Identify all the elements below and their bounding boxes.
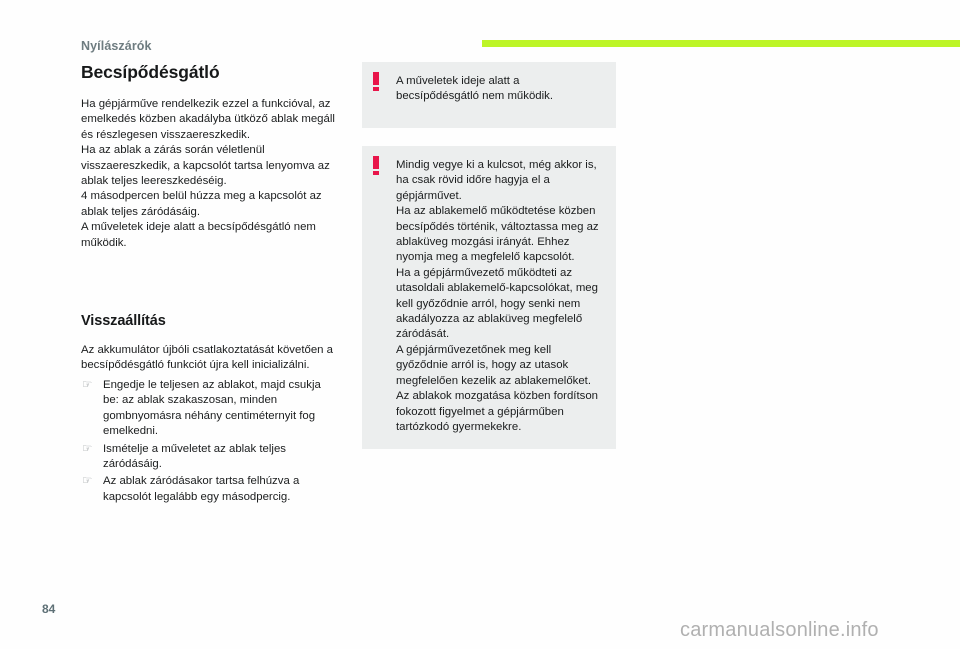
exclamation-icon (373, 72, 380, 91)
watermark: carmanualsonline.info (680, 619, 879, 642)
paragraph: Ha gépjárműve rendelkezik ezzel a funkci… (81, 97, 339, 143)
warning-box: A műveletek ideje alatt a becsípődésgátl… (362, 62, 616, 128)
list-item-label: Ismételje a műveletet az ablak teljes zá… (103, 443, 286, 470)
paragraph: 4 másodpercen belül húzza meg a kapcsoló… (81, 189, 339, 220)
list-item: ☞ Ismételje a műveletet az ablak teljes … (81, 442, 339, 473)
list-item-label: Engedje le teljesen az ablakot, majd csu… (103, 379, 321, 437)
pointing-hand-icon: ☞ (82, 378, 92, 393)
list-item: ☞ Engedje le teljesen az ablakot, majd c… (81, 378, 339, 440)
manual-page: Nyílászárók Becsípődésgátló Ha gépjárműv… (0, 0, 960, 649)
list-item: ☞ Az ablak záródásakor tartsa felhúzva a… (81, 474, 339, 505)
intro-paragraphs: Ha gépjárműve rendelkezik ezzel a funkci… (81, 97, 339, 251)
section-heading-reset: Visszaállítás (81, 313, 339, 329)
pointing-hand-icon: ☞ (82, 442, 92, 457)
page-title: Becsípődésgátló (81, 62, 339, 83)
exclamation-icon (373, 156, 380, 175)
page-sheet: Nyílászárók Becsípődésgátló Ha gépjárműv… (0, 0, 960, 649)
running-head: Nyílászárók (81, 39, 152, 53)
section-spacer (81, 251, 339, 313)
warning-box: Mindig vegye ki a kulcsot, még akkor is,… (362, 146, 616, 449)
list-item-label: Az ablak záródásakor tartsa felhúzva a k… (103, 475, 299, 502)
page-number: 84 (42, 602, 55, 616)
warning-text: Mindig vegye ki a kulcsot, még akkor is,… (396, 158, 602, 435)
reset-steps-list: ☞ Engedje le teljesen az ablakot, majd c… (81, 378, 339, 505)
right-column: A műveletek ideje alatt a becsípődésgátl… (362, 62, 616, 449)
paragraph: Az akkumulátor újbóli csatlakoztatását k… (81, 343, 339, 374)
paragraph: Ha az ablak a zárás során véletlenül vis… (81, 143, 339, 189)
paragraph: A műveletek ideje alatt a becsípődésgátl… (81, 220, 339, 251)
reset-paragraphs: Az akkumulátor újbóli csatlakoztatását k… (81, 343, 339, 374)
header-green-rule (482, 40, 960, 47)
pointing-hand-icon: ☞ (82, 474, 92, 489)
left-column: Becsípődésgátló Ha gépjárműve rendelkezi… (81, 62, 339, 507)
warning-text: A műveletek ideje alatt a becsípődésgátl… (396, 74, 602, 105)
